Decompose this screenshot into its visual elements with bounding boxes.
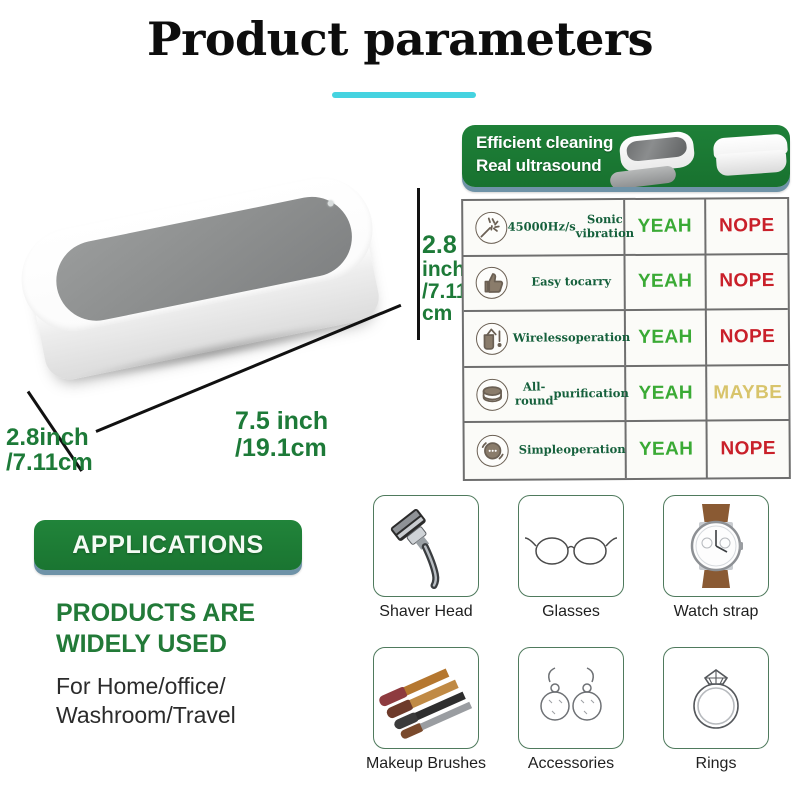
ring-icon [663,647,769,749]
feature-icon-cell [464,367,519,421]
application-item: Rings [646,647,786,773]
feature-label: 45000Hz/sSonic vibration [518,200,625,254]
feature-label: Wirelessoperation [519,311,626,365]
banner-text: Efficient cleaning Real ultrasound [476,132,613,177]
detached-lid-thumbnail [609,165,677,187]
other-product-value: NOPE [706,199,787,253]
page-title: Product parameters [0,12,800,66]
other-product-value: NOPE [707,310,788,364]
comparison-table: 45000Hz/sSonic vibrationYEAHNOPEEasy toc… [461,197,791,481]
glasses-icon [518,495,624,597]
feature-label: All-roundpurification [519,367,626,421]
applications-grid: Shaver HeadGlassesWatch strapMakeup Brus… [356,495,796,795]
length-dimension-label: 7.5 inch /19.1cm [235,408,395,461]
application-item: Glasses [501,495,641,621]
watch-strap-icon [663,495,769,597]
application-item-label: Glasses [501,603,641,621]
table-row: All-roundpurificationYEAHMAYBE [464,366,788,424]
feature-label-line-2: purification [553,387,628,401]
application-item: Accessories [501,647,641,773]
application-item: Watch strap [646,495,786,621]
applications-heading: PRODUCTS ARE WIDELY USED [56,598,336,659]
application-item: Shaver Head [356,495,496,621]
other-product-value: MAYBE [707,366,788,420]
height-unit-cm: cm [422,302,452,325]
banner-line-1: Efficient cleaning [476,132,613,155]
depth-value-cm: /7.11cm [6,449,93,476]
efficient-cleaning-banner: Efficient cleaning Real ultrasound [462,125,790,187]
feature-label: Easy tocarry [519,256,626,310]
our-product-value: YEAH [625,255,706,309]
application-item: Makeup Brushes [356,647,496,773]
application-item-label: Rings [646,755,786,773]
feature-label-line-1: 45000Hz/s [508,220,576,234]
our-product-value: YEAH [626,311,707,365]
table-row: WirelessoperationYEAHNOPE [464,310,788,368]
feature-icon-cell [463,256,518,310]
feature-label-line-1: Simple [519,444,564,458]
banner-line-2: Real ultrasound [476,155,613,178]
our-product-value: YEAH [625,200,706,254]
length-value-inch: 7.5 inch [235,407,328,435]
purification-icon [476,378,508,410]
feature-label-line-2: operation [568,331,630,345]
applications-subtext-line-2: Washroom/Travel [56,701,356,730]
height-unit-inch: inch [422,258,465,281]
applications-subtext-line-1: For Home/office/ [56,672,356,701]
sonic-vibration-icon [475,212,507,244]
our-product-value: YEAH [626,422,707,478]
closed-cleaner-base [716,150,787,177]
wireless-check-icon [475,323,507,355]
table-row: 45000Hz/sSonic vibrationYEAHNOPE [463,199,787,257]
simple-operation-icon [476,435,508,467]
feature-icon-cell [464,312,519,366]
title-underline-accent [332,92,476,98]
application-item-label: Watch strap [646,603,786,621]
our-product-value: YEAH [626,366,707,420]
table-row: Easy tocarryYEAHNOPE [463,255,787,313]
applications-subtext: For Home/office/ Washroom/Travel [56,672,356,730]
closed-cleaner-thumbnail [713,133,790,178]
applications-badge-label: APPLICATIONS [72,531,263,560]
feature-label-line-2: carry [578,276,611,290]
feature-label-line-1: Wireless [513,331,568,345]
application-item-label: Accessories [501,755,641,773]
other-product-value: NOPE [707,421,788,477]
feature-label-line-1: Easy to [531,276,577,290]
depth-dimension-label: 2.8inch /7.11cm [6,425,166,476]
feature-icon-cell [465,423,520,479]
applications-badge: APPLICATIONS [34,520,302,570]
application-item-label: Makeup Brushes [356,755,496,773]
table-row: SimpleoperationYEAHNOPE [465,421,789,479]
makeup-brushes-icon [373,647,479,749]
thumbs-up-icon [475,267,507,299]
feature-label-line-1: All-round [515,380,554,408]
other-product-value: NOPE [706,255,787,309]
feature-label-line-2: operation [563,443,625,457]
applications-heading-line-1: PRODUCTS ARE [56,598,336,629]
earrings-icon [518,647,624,749]
infographic-page: Product parameters 2.8 inch /7.11 cm 2.8… [0,0,800,800]
length-value-cm: /19.1cm [235,434,327,462]
height-dimension-line [417,188,420,340]
depth-value-inch: 2.8inch [6,424,89,451]
shaver-head-icon [373,495,479,597]
feature-label: Simpleoperation [520,422,627,478]
application-item-label: Shaver Head [356,603,496,621]
applications-heading-line-2: WIDELY USED [56,629,336,660]
